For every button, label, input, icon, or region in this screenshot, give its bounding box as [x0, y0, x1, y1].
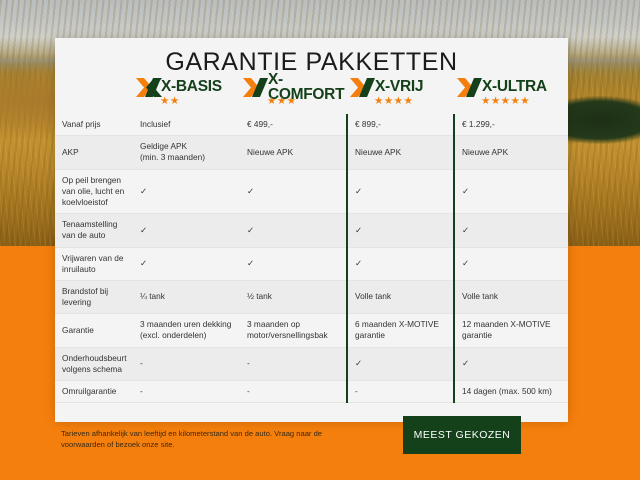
x-motive-logo-icon — [136, 77, 162, 98]
package-name-basis: X-BASIS — [161, 79, 222, 95]
x-motive-logo-icon — [457, 77, 483, 98]
table-body: Vanaf prijs Inclusief € 499,- € 899,- € … — [55, 114, 568, 403]
package-logo-ultra[interactable]: X-ULTRA ★★★★★ — [454, 76, 561, 114]
cell-ultra: Nieuwe APK — [454, 136, 568, 169]
cell-vrij: ✓ — [347, 214, 454, 247]
cell-comfort: - — [240, 347, 347, 380]
table-row: Vanaf prijs Inclusief € 499,- € 899,- € … — [55, 114, 568, 136]
cell-ultra: ✓ — [454, 247, 568, 280]
packages-comparison-table: Vanaf prijs Inclusief € 499,- € 899,- € … — [55, 114, 568, 403]
cell-vrij: 6 maanden X-MOTIVEgarantie — [347, 314, 454, 347]
package-rating-vrij: ★★★★ — [374, 96, 413, 107]
table-row: Onderhoudsbeurt volgens schema - - ✓ ✓ — [55, 347, 568, 380]
cell-comfort: Nieuwe APK — [240, 136, 347, 169]
cell-basis: - — [133, 381, 240, 403]
row-label: Vrijwaren van de inruilauto — [55, 247, 133, 280]
cell-ultra: 14 dagen (max. 500 km) — [454, 381, 568, 403]
cell-vrij: ✓ — [347, 347, 454, 380]
package-logo-basis[interactable]: X-BASIS ★★ — [133, 76, 240, 114]
table-row: Vrijwaren van de inruilauto ✓ ✓ ✓ ✓ — [55, 247, 568, 280]
cell-basis: ✓ — [133, 169, 240, 214]
cell-basis: ✓ — [133, 247, 240, 280]
row-label: Omruilgarantie — [55, 381, 133, 403]
table-row: Brandstof bij levering ¼ tank ½ tank Vol… — [55, 280, 568, 313]
x-motive-logo-icon — [243, 77, 269, 98]
row-label: Tenaamstelling van de auto — [55, 214, 133, 247]
row-label: AKP — [55, 136, 133, 169]
package-logo-vrij[interactable]: X-VRIJ ★★★★ — [347, 76, 454, 114]
cell-basis: - — [133, 347, 240, 380]
cell-basis: Inclusief — [133, 114, 240, 136]
cell-vrij: Nieuwe APK — [347, 136, 454, 169]
package-name-ultra: X-ULTRA — [482, 79, 547, 95]
cell-vrij: ✓ — [347, 169, 454, 214]
cell-comfort: - — [240, 381, 347, 403]
meest-gekozen-button[interactable]: MEEST GEKOZEN — [403, 416, 521, 454]
cell-comfort: ½ tank — [240, 280, 347, 313]
cell-ultra: 12 maanden X-MOTIVEgarantie — [454, 314, 568, 347]
package-rating-basis: ★★ — [160, 96, 180, 107]
cell-comfort: € 499,- — [240, 114, 347, 136]
cell-ultra: ✓ — [454, 169, 568, 214]
row-label: Vanaf prijs — [55, 114, 133, 136]
warranty-packages-card: GARANTIE PAKKETTEN X-BASIS ★★ — [55, 38, 568, 422]
package-rating-ultra: ★★★★★ — [481, 96, 530, 107]
tariff-disclaimer: Tarieven afhankelijk van leeftijd en kil… — [61, 428, 361, 451]
row-label: Op peil brengen van olie, lucht en koelv… — [55, 169, 133, 214]
cell-ultra: € 1.299,- — [454, 114, 568, 136]
cell-vrij: € 899,- — [347, 114, 454, 136]
x-motive-logo-icon — [350, 77, 376, 98]
table-row: AKP Geldige APK(min. 3 maanden) Nieuwe A… — [55, 136, 568, 169]
package-rating-comfort: ★★★ — [267, 96, 296, 107]
table-row: Tenaamstelling van de auto ✓ ✓ ✓ ✓ — [55, 214, 568, 247]
cell-comfort: ✓ — [240, 169, 347, 214]
row-label: Garantie — [55, 314, 133, 347]
cell-ultra: ✓ — [454, 214, 568, 247]
cell-vrij: Volle tank — [347, 280, 454, 313]
package-name-vrij: X-VRIJ — [375, 79, 423, 95]
cell-vrij: ✓ — [347, 247, 454, 280]
cell-comfort: ✓ — [240, 214, 347, 247]
cell-vrij: - — [347, 381, 454, 403]
footer-area: Tarieven afhankelijk van leeftijd en kil… — [55, 422, 568, 464]
cell-basis: 3 maanden uren dekking(excl. onderdelen) — [133, 314, 240, 347]
cell-ultra: ✓ — [454, 347, 568, 380]
row-label: Brandstof bij levering — [55, 280, 133, 313]
package-logo-row: X-BASIS ★★ X-COMFORT ★★★ — [55, 76, 568, 114]
cell-ultra: Volle tank — [454, 280, 568, 313]
cell-basis: Geldige APK(min. 3 maanden) — [133, 136, 240, 169]
cell-comfort: ✓ — [240, 247, 347, 280]
promo-slide: GARANTIE PAKKETTEN X-BASIS ★★ — [0, 0, 640, 480]
table-row: Garantie 3 maanden uren dekking(excl. on… — [55, 314, 568, 347]
row-label: Onderhoudsbeurt volgens schema — [55, 347, 133, 380]
page-title: GARANTIE PAKKETTEN — [55, 38, 568, 76]
cell-basis: ¼ tank — [133, 280, 240, 313]
package-logo-comfort[interactable]: X-COMFORT ★★★ — [240, 76, 347, 114]
cell-basis: ✓ — [133, 214, 240, 247]
table-row: Omruilgarantie - - - 14 dagen (max. 500 … — [55, 381, 568, 403]
table-row: Op peil brengen van olie, lucht en koelv… — [55, 169, 568, 214]
cell-comfort: 3 maanden opmotor/versnellingsbak — [240, 314, 347, 347]
